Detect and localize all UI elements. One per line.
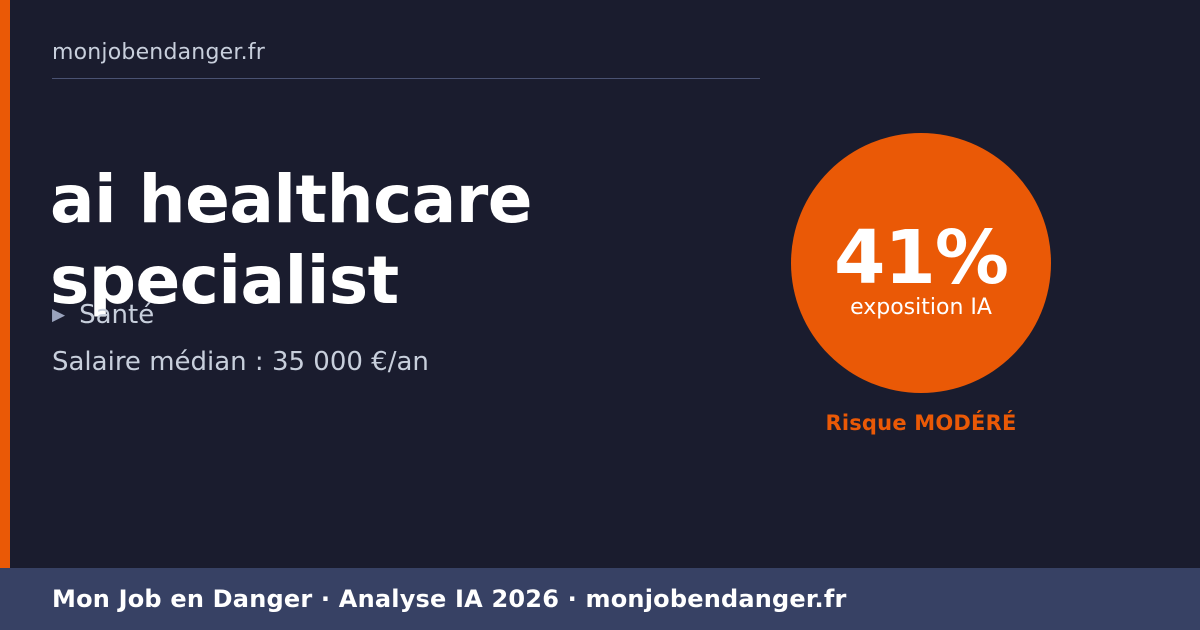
exposure-score-circle: 41% exposition IA — [791, 133, 1051, 393]
social-share-card: monjobendanger.fr ai healthcare speciali… — [0, 0, 1200, 630]
exposure-score-caption: exposition IA — [850, 297, 992, 319]
left-accent-bar — [0, 0, 10, 568]
page-title: ai healthcare specialist — [50, 160, 750, 321]
site-name: monjobendanger.fr — [52, 40, 265, 66]
triangle-right-icon: ▶ — [52, 307, 65, 324]
sector-label: Santé — [79, 300, 154, 331]
header-divider — [52, 78, 760, 79]
median-salary-text: Salaire médian : 35 000 €/an — [52, 347, 429, 378]
footer-bar: Mon Job en Danger · Analyse IA 2026 · mo… — [0, 568, 1200, 630]
risk-status-badge: Risque MODÉRÉ — [791, 411, 1051, 436]
footer-text: Mon Job en Danger · Analyse IA 2026 · mo… — [52, 585, 847, 614]
ai-exposure-score-group: 41% exposition IA Risque MODÉRÉ — [791, 133, 1051, 393]
exposure-score-value: 41% — [834, 221, 1008, 295]
sector-row: ▶ Santé — [52, 300, 154, 331]
